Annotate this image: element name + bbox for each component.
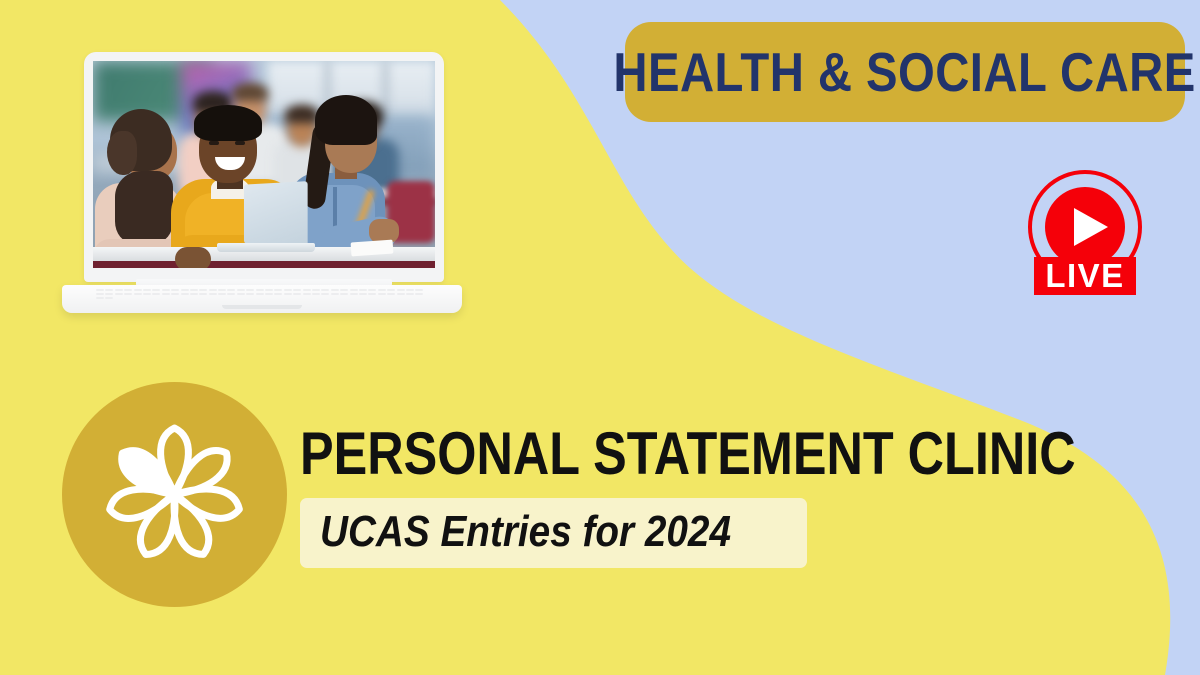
laptop-screen	[93, 61, 435, 268]
photo-student-center	[235, 141, 245, 145]
photo-student-center	[209, 141, 219, 145]
photo-student-left-scarf	[115, 171, 173, 243]
laptop-keyboard	[96, 289, 428, 300]
laptop-mockup	[62, 52, 462, 327]
photo-notebook	[351, 240, 394, 257]
page-subtitle: UCAS Entries for 2024	[320, 510, 731, 554]
classroom-photo	[93, 61, 435, 268]
page-title: PERSONAL STATEMENT CLINIC	[300, 424, 854, 484]
category-badge-label: HEALTH & SOCIAL CARE	[614, 45, 1196, 100]
photo-student-center-hand	[175, 247, 211, 268]
flower-petal-logo	[62, 382, 287, 607]
slide-canvas: HEALTH & SOCIAL CARE LIVE	[0, 0, 1200, 675]
photo-student-left	[107, 131, 137, 175]
subtitle-highlight: UCAS Entries for 2024	[300, 498, 807, 568]
photo-front-desk-edge	[93, 261, 435, 268]
photo-background-student	[232, 83, 268, 101]
headline-block: PERSONAL STATEMENT CLINIC UCAS Entries f…	[300, 424, 960, 568]
live-badge[interactable]: LIVE	[1018, 165, 1152, 305]
photo-background-student	[285, 105, 319, 123]
category-badge: HEALTH & SOCIAL CARE	[625, 22, 1185, 122]
laptop-lid	[84, 52, 444, 282]
photo-open-laptop	[244, 181, 308, 247]
photo-student-center-hair	[194, 105, 262, 141]
photo-open-laptop	[217, 243, 315, 252]
photo-window-divider	[383, 61, 388, 119]
photo-student-right-hair	[315, 95, 377, 145]
live-label: LIVE	[1045, 257, 1124, 294]
laptop-base	[62, 285, 462, 313]
